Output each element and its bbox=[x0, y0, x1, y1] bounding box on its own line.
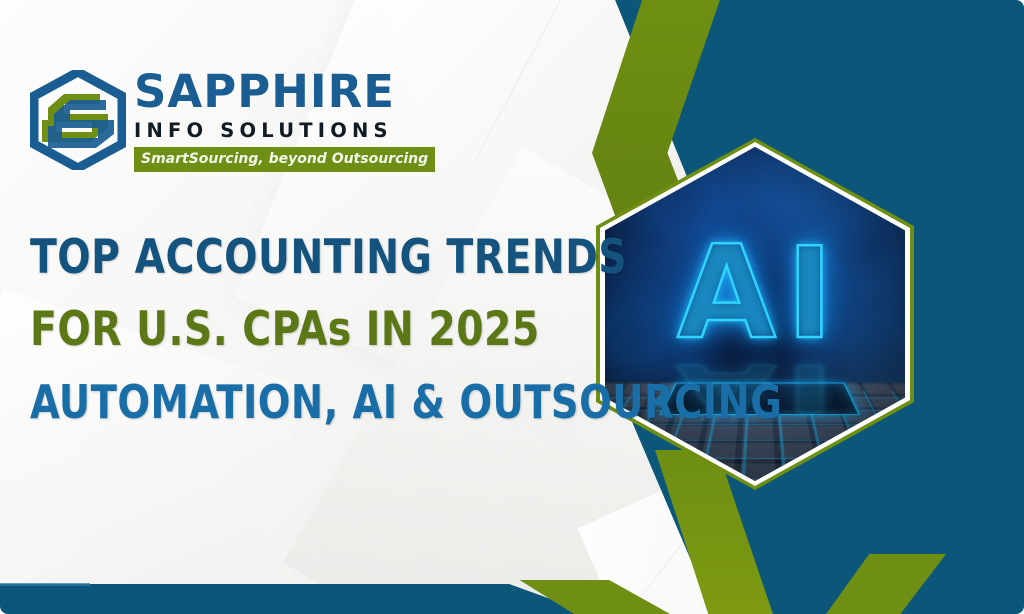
headline-line-3: AUTOMATION, AI & OUTSOURCING bbox=[30, 366, 625, 438]
logo-subtitle: INFO SOLUTIONS bbox=[134, 118, 396, 144]
logo-wordmark: SAPPHIRE bbox=[134, 66, 396, 118]
logo-tagline: SmartSourcing, beyond Outsourcing bbox=[134, 147, 435, 172]
teal-bottom-highlight bbox=[0, 583, 90, 586]
headline-block: TOP ACCOUNTING TRENDS FOR U.S. CPAs IN 2… bbox=[30, 222, 670, 438]
marketing-banner: A I A I SAPPHIRE INFO SOLUTIONS SmartSou… bbox=[0, 0, 1024, 614]
logo-text-block: SAPPHIRE INFO SOLUTIONS SmartSourcing, b… bbox=[134, 66, 396, 172]
sapphire-hexagon-s-monogram-icon bbox=[30, 70, 126, 170]
headline-line-2: FOR U.S. CPAs IN 2025 bbox=[30, 294, 625, 366]
company-logo[interactable]: SAPPHIRE INFO SOLUTIONS SmartSourcing, b… bbox=[30, 66, 390, 178]
teal-bottom-bar bbox=[0, 584, 592, 614]
headline-line-1: TOP ACCOUNTING TRENDS bbox=[30, 222, 625, 294]
